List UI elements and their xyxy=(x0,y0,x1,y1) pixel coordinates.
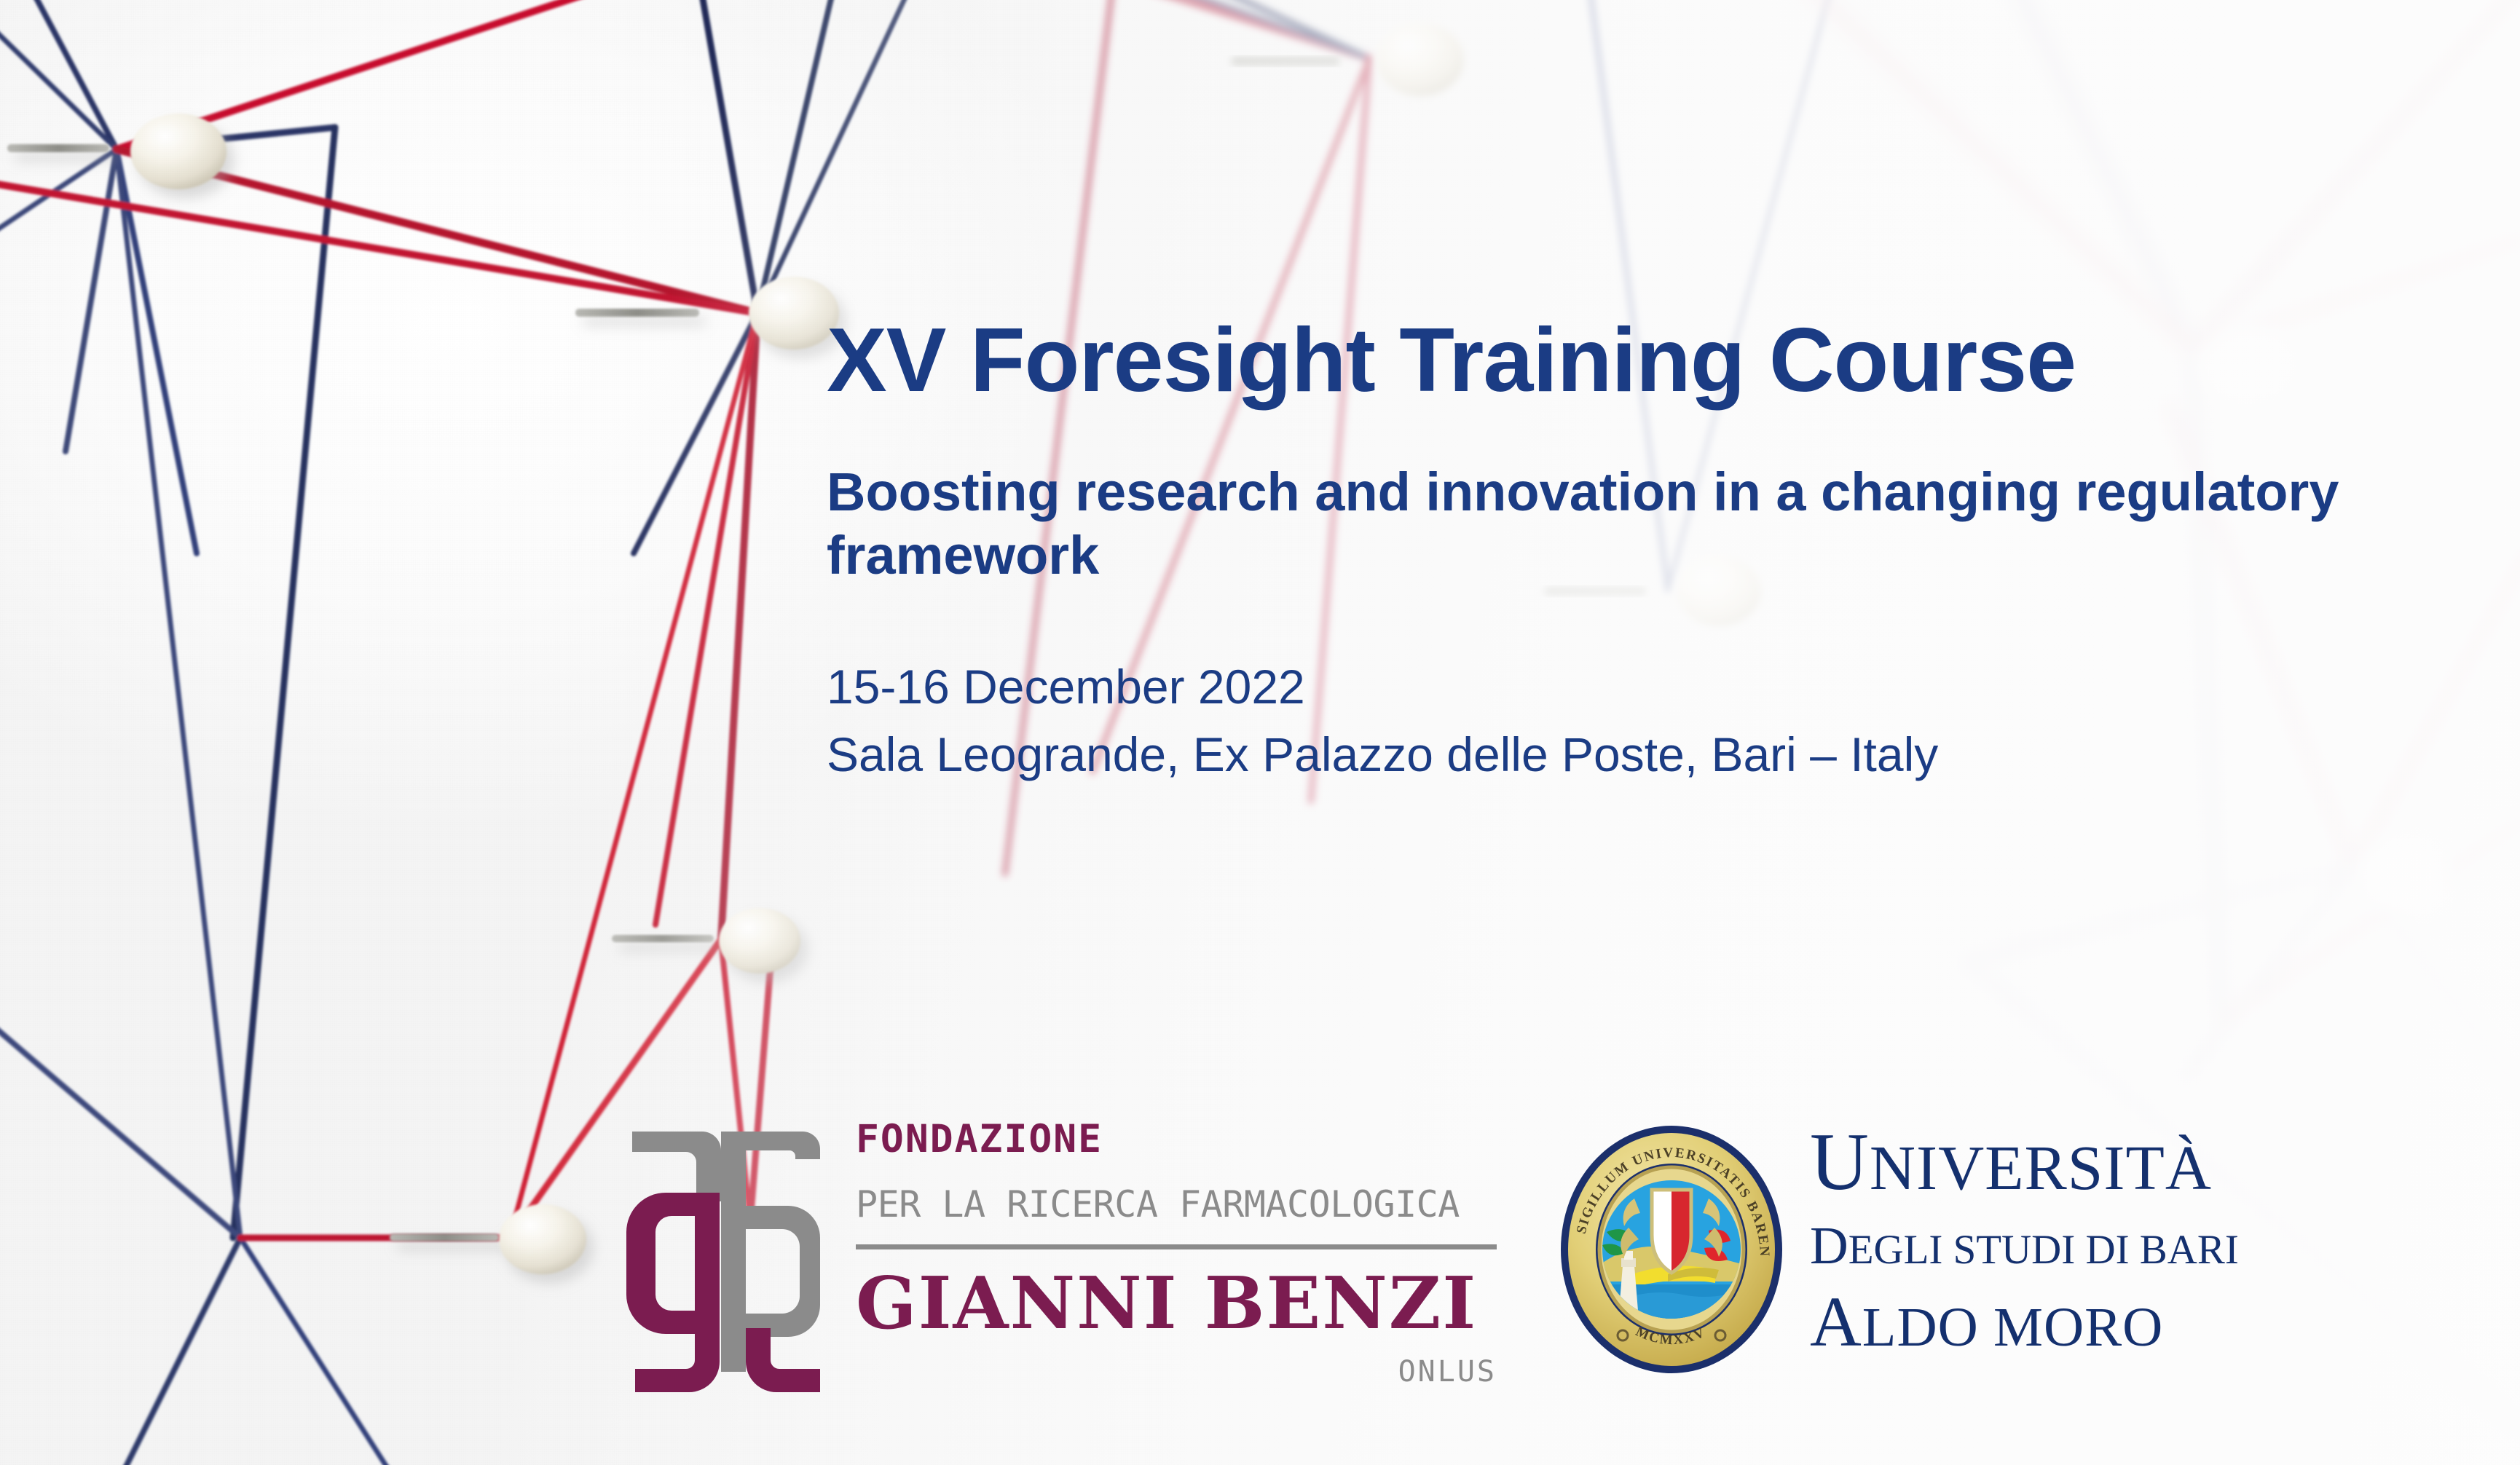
gb-monogram-icon xyxy=(619,1120,830,1404)
event-venue: Sala Leogrande, Ex Palazzo delle Poste, … xyxy=(827,721,2458,789)
page-title: XV Foresight Training Course xyxy=(827,313,2458,408)
uniba-line-aldo-moro: ALDO MORO xyxy=(1810,1287,2422,1358)
event-date: 15-16 December 2022 xyxy=(827,653,2458,722)
uniba-line2-initial: D xyxy=(1810,1216,1848,1275)
uniba-line3-initial: A xyxy=(1810,1283,1862,1362)
poster-canvas: XV Foresight Training Course Boosting re… xyxy=(0,0,2520,1465)
logo-strip: FONDAZIONE PER LA RICERCA FARMACOLOGICA … xyxy=(619,1114,2425,1405)
gb-line-per-la-ricerca: PER LA RICERCA FARMACOLOGICA xyxy=(856,1186,1515,1223)
uniba-line1-rest: NIVERSITÀ xyxy=(1870,1132,2212,1203)
pin-head xyxy=(390,1204,586,1274)
pin-head xyxy=(1231,23,1464,96)
poster-subtitle: Boosting research and innovation in a ch… xyxy=(827,461,2414,587)
gb-line-fondazione: FONDAZIONE xyxy=(856,1120,1515,1158)
logo-universita-bari: SIGILLUM UNIVERSITATIS BARENSIS MCMXXV U… xyxy=(1559,1117,2425,1405)
uniba-line2-rest: EGLI STUDI DI BARI xyxy=(1848,1227,2239,1273)
gb-wordmark: FONDAZIONE PER LA RICERCA FARMACOLOGICA … xyxy=(856,1114,1515,1405)
university-crest-icon: SIGILLUM UNIVERSITATIS BARENSIS MCMXXV xyxy=(1559,1123,1784,1376)
uniba-line-degli-studi: DEGLI STUDI DI BARI xyxy=(1810,1219,2422,1272)
uniba-line-universita: UNIVERSITÀ xyxy=(1810,1121,2422,1203)
logo-fondazione-gianni-benzi: FONDAZIONE PER LA RICERCA FARMACOLOGICA … xyxy=(619,1114,1529,1405)
uniba-line1-initial: U xyxy=(1810,1117,1870,1207)
event-details: 15-16 December 2022 Sala Leogrande, Ex P… xyxy=(827,653,2458,789)
gb-line-gianni-benzi: GIANNI BENZI xyxy=(856,1268,1515,1340)
pin-head xyxy=(2358,840,2449,915)
gb-line-onlus: ONLUS xyxy=(856,1357,1497,1386)
uniba-line3-rest: LDO MORO xyxy=(1862,1296,2164,1358)
gb-divider-rule xyxy=(856,1244,1497,1249)
uniba-wordmark: UNIVERSITÀ DEGLI STUDI DI BARI ALDO MORO xyxy=(1810,1121,2422,1358)
poster-text-block: XV Foresight Training Course Boosting re… xyxy=(827,313,2458,789)
